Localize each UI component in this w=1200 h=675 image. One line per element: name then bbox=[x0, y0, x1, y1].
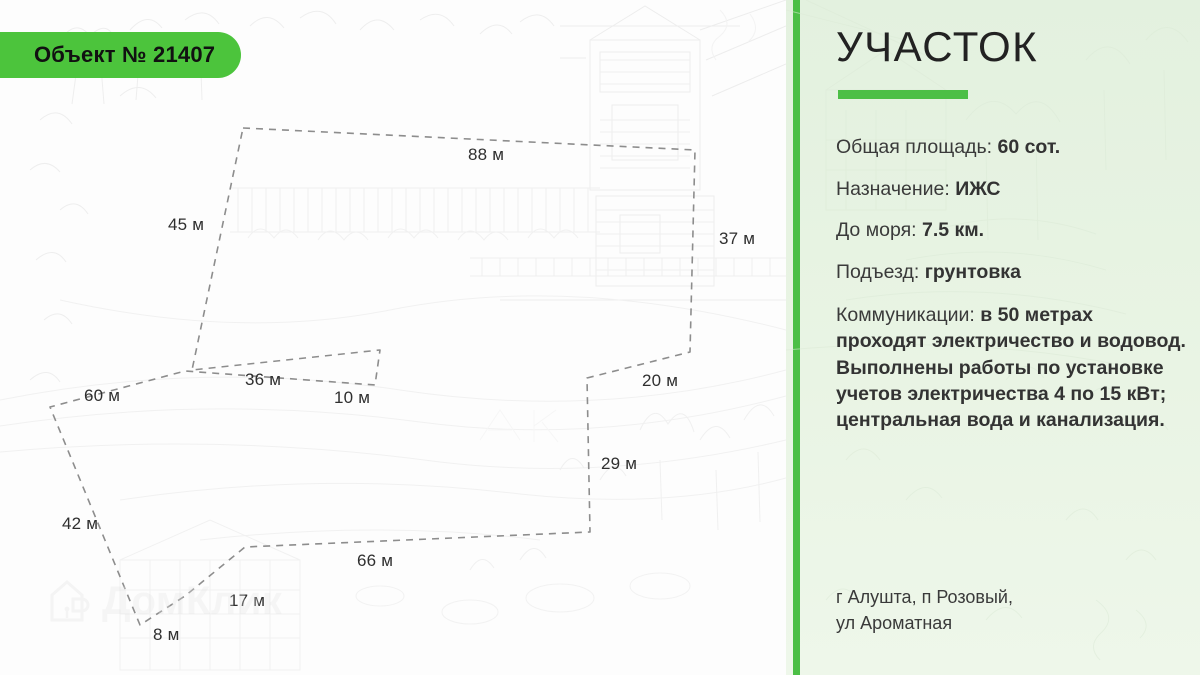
fact-area-key: Общая площадь: bbox=[836, 136, 992, 158]
fact-distance-to-sea: До моря: 7.5 км. bbox=[836, 218, 1186, 244]
dimension-label-8: 8 м bbox=[153, 625, 179, 645]
plot-map-area: 88 м 45 м 37 м 36 м 10 м 20 м 60 м 29 м … bbox=[0, 0, 786, 675]
fact-communications-key: Коммуникации: bbox=[836, 304, 975, 326]
plot-boundary-polygon bbox=[0, 0, 786, 675]
fact-purpose: Назначение: ИЖС bbox=[836, 177, 1186, 203]
dimension-label-20: 20 м bbox=[642, 371, 678, 391]
fact-purpose-value: ИЖС bbox=[955, 178, 1000, 200]
dimension-label-10: 10 м bbox=[334, 388, 370, 408]
dimension-label-17: 17 м bbox=[229, 591, 265, 611]
dimension-label-36: 36 м bbox=[245, 370, 281, 390]
dimension-label-37: 37 м bbox=[719, 229, 755, 249]
fact-access-road-key: Подъезд: bbox=[836, 261, 919, 283]
panel-accent-bar bbox=[793, 0, 800, 675]
title-underline-accent bbox=[838, 90, 968, 99]
fact-area-value: 60 сот. bbox=[997, 136, 1060, 158]
dimension-label-88: 88 м bbox=[468, 145, 504, 165]
object-number-badge: Объект № 21407 bbox=[0, 32, 241, 78]
fact-area: Общая площадь: 60 сот. bbox=[836, 135, 1186, 161]
info-panel: УЧАСТОК Общая площадь: 60 сот. Назначени… bbox=[786, 0, 1200, 675]
dimension-label-66: 66 м bbox=[357, 551, 393, 571]
panel-title: УЧАСТОК bbox=[836, 26, 1038, 68]
facts-list: Общая площадь: 60 сот. Назначение: ИЖС Д… bbox=[836, 135, 1186, 434]
dimension-label-42: 42 м bbox=[62, 514, 98, 534]
fact-purpose-key: Назначение: bbox=[836, 178, 950, 200]
fact-access-road: Подъезд: грунтовка bbox=[836, 260, 1186, 286]
fact-distance-to-sea-value: 7.5 км. bbox=[922, 219, 984, 241]
dimension-label-60: 60 м bbox=[84, 386, 120, 406]
dimension-label-45: 45 м bbox=[168, 215, 204, 235]
fact-distance-to-sea-key: До моря: bbox=[836, 219, 917, 241]
address-text: г Алушта, п Розовый, ул Ароматная bbox=[836, 585, 1176, 636]
fact-access-road-value: грунтовка bbox=[925, 261, 1021, 283]
listing-card: 88 м 45 м 37 м 36 м 10 м 20 м 60 м 29 м … bbox=[0, 0, 1200, 675]
dimension-label-29: 29 м bbox=[601, 454, 637, 474]
fact-communications: Коммуникации: в 50 метрах проходят элект… bbox=[836, 302, 1186, 434]
